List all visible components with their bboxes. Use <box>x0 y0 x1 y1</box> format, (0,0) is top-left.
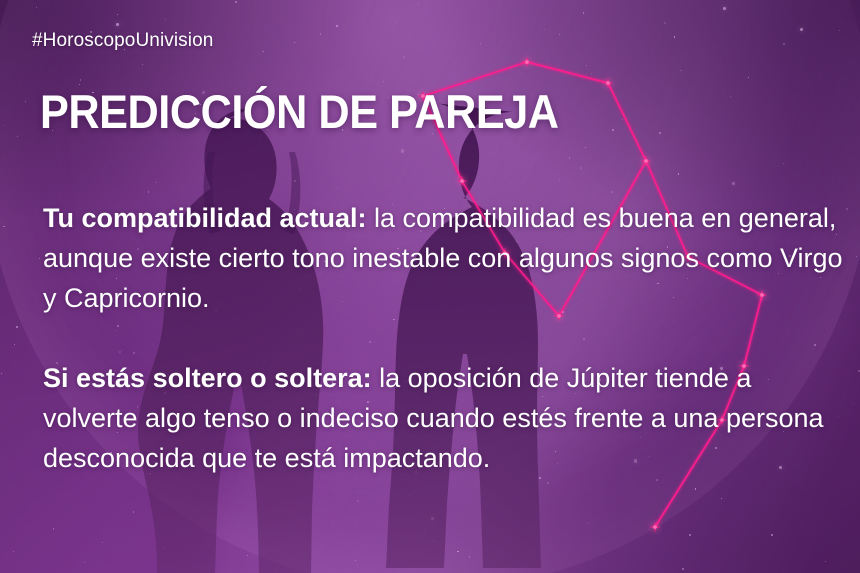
paragraph-compatibility: Tu compatibilidad actual: la compatibili… <box>43 198 849 318</box>
paragraph-single: Si estás soltero o soltera: la oposición… <box>43 358 849 478</box>
page-title: PREDICCIÓN DE PAREJA <box>40 88 559 135</box>
text-content: #HoroscopoUnivision PREDICCIÓN DE PAREJA… <box>0 0 860 573</box>
paragraph-lead-single: Si estás soltero o soltera: <box>43 363 372 393</box>
hashtag-label: #HoroscopoUnivision <box>32 30 213 52</box>
paragraph-lead-compatibility: Tu compatibilidad actual: <box>43 203 367 233</box>
body-copy: Tu compatibilidad actual: la compatibili… <box>43 198 849 478</box>
horoscope-card: #HoroscopoUnivision PREDICCIÓN DE PAREJA… <box>0 0 860 573</box>
